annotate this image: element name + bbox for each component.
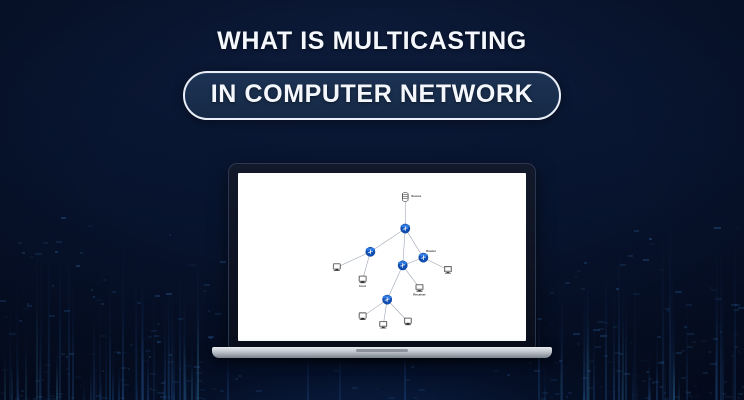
subtitle-badge-label: IN COMPUTER NETWORK [211, 80, 534, 108]
host-monitor-icon [380, 321, 387, 328]
diagram-links [337, 196, 448, 325]
page-title: WHAT IS MULTICASTING [0, 28, 744, 56]
diagram-node-label: Receiver [413, 292, 426, 296]
diagram-link [387, 265, 403, 299]
host-monitor-icon [333, 264, 340, 271]
diagram-link [403, 229, 406, 266]
diagram-link [405, 229, 423, 258]
router-node [383, 295, 392, 304]
heading-block: WHAT IS MULTICASTING IN COMPUTER NETWORK [0, 28, 744, 120]
banner: WHAT IS MULTICASTING IN COMPUTER NETWORK… [0, 0, 744, 400]
laptop-base [212, 347, 552, 358]
laptop-screen: SourceRouterHostReceiver [238, 173, 526, 341]
host-monitor-icon [359, 313, 366, 320]
diagram-link [337, 252, 371, 268]
laptop-lid: SourceRouterHostReceiver [228, 163, 536, 348]
router-node [401, 224, 410, 233]
router-node [366, 247, 375, 256]
network-diagram: SourceRouterHostReceiver [238, 173, 526, 341]
diagram-node-label: Source [411, 194, 421, 198]
host-monitor-icon [404, 318, 411, 325]
diagram-link [370, 229, 405, 252]
laptop-mockup: SourceRouterHostReceiver [228, 163, 536, 363]
host-monitor-icon [359, 276, 366, 283]
host-monitor-icon [416, 284, 423, 291]
network-diagram-svg: SourceRouterHostReceiver [238, 173, 526, 341]
laptop-shadow [188, 356, 576, 370]
subtitle-badge: IN COMPUTER NETWORK [183, 71, 562, 120]
host-monitor-icon [444, 266, 451, 273]
diagram-node-label: Router [426, 249, 436, 253]
router-node [419, 253, 428, 262]
source-database-icon [402, 193, 408, 202]
diagram-node-label: Host [359, 284, 366, 288]
router-node [398, 261, 407, 270]
